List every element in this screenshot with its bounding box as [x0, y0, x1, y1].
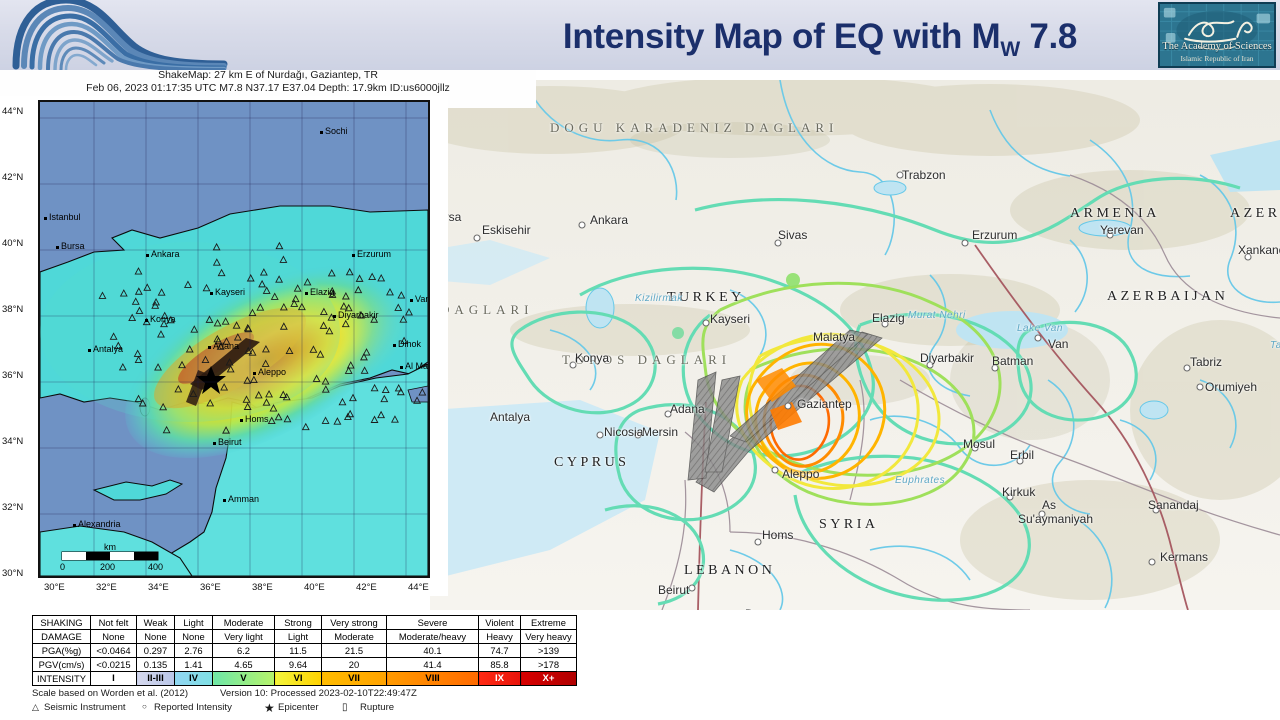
- legend-cell: None: [175, 630, 213, 644]
- web-map-label: Mersin: [642, 425, 678, 439]
- city-marker: [88, 349, 91, 352]
- legend-cell: >139: [521, 644, 577, 658]
- web-map-label: Damascus: [745, 607, 802, 610]
- web-map-label: DOGU KARADENIZ DAGLARI: [550, 120, 838, 136]
- web-map-label: Konya: [575, 351, 609, 365]
- web-map-label: Van: [1048, 337, 1068, 351]
- legend-cell: >178: [521, 658, 577, 672]
- symbol-reported-glyph: ○: [142, 702, 147, 711]
- legend-cell: Not felt: [91, 616, 137, 630]
- web-map-label: Kermans: [1160, 550, 1208, 564]
- academy-of-sciences-logo: The Academy of Sciences Islamic Republic…: [1158, 2, 1276, 68]
- symbol-reported-label: Reported Intensity: [154, 702, 232, 713]
- city-marker: [400, 366, 403, 369]
- legend-cell: 4.65: [213, 658, 275, 672]
- web-map-label: LEBANON: [684, 563, 775, 579]
- legend-cell: Violent: [479, 616, 521, 630]
- symbol-epicenter-label: Epicenter: [278, 702, 319, 713]
- legend-cell: Moderate: [322, 630, 387, 644]
- web-map-label: Sanandaj: [1148, 498, 1199, 512]
- city-marker: [305, 292, 308, 295]
- legend-cell: Very strong: [322, 616, 387, 630]
- legend-cell: 11.5: [275, 644, 322, 658]
- city-marker: [223, 499, 226, 502]
- city-marker: [410, 299, 413, 302]
- city-marker: [352, 254, 355, 257]
- city-label: Kayseri: [215, 287, 245, 297]
- intensity-swatch-i: I: [91, 672, 137, 686]
- version-note: Version 10: Processed 2023-02-10T22:49:4…: [220, 688, 417, 699]
- logo-caption-primary: The Academy of Sciences: [1160, 41, 1274, 52]
- longitude-tick: 44°E: [408, 582, 429, 593]
- logo-caption-secondary: Islamic Republic of Iran: [1160, 54, 1274, 63]
- scalebar-unit: km: [104, 542, 116, 552]
- intensity-swatch-iv: IV: [175, 672, 213, 686]
- web-map-label: Erzurum: [972, 228, 1017, 242]
- legend-cell: Light: [175, 616, 213, 630]
- legend-cell: <0.0464: [91, 644, 137, 658]
- legend-cell: None: [137, 630, 175, 644]
- city-marker: [333, 315, 336, 318]
- web-map-label: Orumiyeh: [1205, 380, 1257, 394]
- web-map-label: Antalya: [490, 410, 530, 424]
- city-marker: [208, 346, 211, 349]
- usgs-web-intensity-map[interactable]: DOGU KARADENIZ DAGLARITOROS DAGLARIDAGLA…: [430, 80, 1280, 610]
- web-map-label: Aleppo: [782, 467, 819, 481]
- page-title-magnitude: 7.8: [1020, 17, 1077, 56]
- web-map-label: Yerevan: [1100, 223, 1144, 237]
- intensity-row: INTENSITYIII-IIIIVVVIVIIVIIIIXX+: [33, 672, 577, 686]
- city-label: Erzurum: [357, 249, 391, 259]
- intensity-swatch-vii: VII: [322, 672, 387, 686]
- legend-cell: Light: [275, 630, 322, 644]
- city-label: Ankara: [151, 249, 180, 259]
- web-map-label: Gaziantep: [797, 397, 852, 411]
- web-map-label: Homs: [762, 528, 793, 542]
- intensity-swatch-ix: IX: [479, 672, 521, 686]
- longitude-tick: 32°E: [96, 582, 117, 593]
- slide-root: DOGU KARADENIZ DAGLARITOROS DAGLARIDAGLA…: [0, 0, 1280, 720]
- intensity-swatch-viii: VIII: [387, 672, 479, 686]
- legend-cell: 0.135: [137, 658, 175, 672]
- page-title-main: Intensity Map of EQ with M: [563, 17, 1000, 56]
- symbol-rupture-label: Rupture: [360, 702, 394, 713]
- web-map-label: Tabriz: [1190, 355, 1222, 369]
- web-map-label: AZER: [1230, 206, 1280, 222]
- legend-row-header: SHAKING: [33, 616, 91, 630]
- longitude-tick: 36°E: [200, 582, 221, 593]
- longitude-tick: 34°E: [148, 582, 169, 593]
- city-marker: [44, 217, 47, 220]
- city-label: Aleppo: [258, 367, 286, 377]
- city-label: Antalya: [93, 344, 123, 354]
- city-marker: [56, 246, 59, 249]
- latitude-tick: 42°N: [2, 172, 23, 183]
- legend-cell: 40.1: [387, 644, 479, 658]
- latitude-tick: 34°N: [2, 436, 23, 447]
- city-label: Sochi: [325, 126, 348, 136]
- scale-note: Scale based on Worden et al. (2012): [32, 688, 188, 699]
- city-label: Alexandria: [78, 519, 121, 529]
- intensity-row-header: INTENSITY: [33, 672, 91, 686]
- legend-cell: 85.8: [479, 658, 521, 672]
- latitude-tick: 40°N: [2, 238, 23, 249]
- city-label: Amman: [228, 494, 259, 504]
- wave-logo-icon: [2, 0, 232, 70]
- page-title: Intensity Map of EQ with MW 7.8: [500, 12, 1140, 64]
- web-map-label: Beirut: [658, 583, 689, 597]
- legend-cell: Weak: [137, 616, 175, 630]
- legend-cell: Strong: [275, 616, 322, 630]
- city-marker: [210, 292, 213, 295]
- intensity-legend: SHAKINGNot feltWeakLightModerateStrongVe…: [32, 615, 536, 714]
- latitude-tick: 36°N: [2, 370, 23, 381]
- legend-row-header: PGA(%g): [33, 644, 91, 658]
- web-map-label: Malatya: [813, 330, 855, 344]
- legend-cell: Heavy: [479, 630, 521, 644]
- shakemap-title-line2: ShakeMap: 27 km E of Nurdağı, Gaziantep,…: [0, 69, 536, 83]
- legend-footer: Scale based on Worden et al. (2012) Vers…: [32, 688, 536, 714]
- city-marker: [253, 372, 256, 375]
- city-label: Bursa: [61, 241, 85, 251]
- web-map-label: Tatikah Rud: [1270, 340, 1280, 351]
- web-map-label: Murat Nehri: [908, 310, 966, 321]
- longitude-tick: 30°E: [44, 582, 65, 593]
- web-map-label: Elazig: [872, 311, 905, 325]
- scalebar-tick-200: 200: [100, 562, 115, 572]
- latitude-tick: 38°N: [2, 304, 23, 315]
- legend-row-header: PGV(cm/s): [33, 658, 91, 672]
- page-title-subscript: W: [1000, 38, 1020, 61]
- shakemap-graphic: [40, 102, 428, 576]
- city-label: Van: [415, 294, 430, 304]
- web-map-label: Erbil: [1010, 448, 1034, 462]
- legend-cell: Extreme: [521, 616, 577, 630]
- city-marker: [73, 524, 76, 527]
- legend-cell: 41.4: [387, 658, 479, 672]
- shakemap-plot-area: SochiIstanbulBursaAnkaraErzurumKayseriEl…: [38, 100, 430, 578]
- city-marker: [393, 344, 396, 347]
- slide-header-banner: Intensity Map of EQ with MW 7.8: [0, 0, 1280, 70]
- city-label: Beirut: [218, 437, 242, 447]
- legend-cell: Moderate/heavy: [387, 630, 479, 644]
- legend-cell: Very light: [213, 630, 275, 644]
- scalebar-tick-400: 400: [148, 562, 163, 572]
- city-label: Al Maw: [405, 361, 430, 371]
- legend-cell: 2.76: [175, 644, 213, 658]
- legend-cell: 0.297: [137, 644, 175, 658]
- shakemap-title-line3: Feb 06, 2023 01:17:35 UTC M7.8 N37.17 E3…: [0, 82, 536, 96]
- web-map-label: Kirkuk: [1002, 485, 1035, 499]
- web-map-label: ARMENIA: [1070, 206, 1160, 222]
- intensity-swatch-ii-iii: II-III: [137, 672, 175, 686]
- intensity-swatch-vi: VI: [275, 672, 322, 686]
- legend-row: DAMAGENoneNoneNoneVery lightLightModerat…: [33, 630, 577, 644]
- legend-cell: Very heavy: [521, 630, 577, 644]
- city-marker: [213, 442, 216, 445]
- city-label: Adana: [213, 341, 239, 351]
- legend-row-header: DAMAGE: [33, 630, 91, 644]
- latitude-tick: 32°N: [2, 502, 23, 513]
- shakemap-figure[interactable]: 44°N42°N40°N38°N36°N34°N32°N30°N 30°E32°…: [0, 96, 448, 596]
- city-label: Dihok: [398, 339, 421, 349]
- web-map-label: AZERBAIJAN: [1107, 289, 1228, 305]
- legend-cell: 9.64: [275, 658, 322, 672]
- web-map-label: Sivas: [778, 228, 807, 242]
- web-map-label: Trabzon: [902, 168, 946, 182]
- city-marker: [320, 131, 323, 134]
- city-label: Konya: [150, 314, 176, 324]
- intensity-swatch-v: V: [213, 672, 275, 686]
- symbol-instrument-glyph: △: [32, 702, 39, 713]
- legend-cell: Severe: [387, 616, 479, 630]
- legend-cell: Moderate: [213, 616, 275, 630]
- longitude-tick: 40°E: [304, 582, 325, 593]
- legend-cell: 74.7: [479, 644, 521, 658]
- web-map-label: Xankandi: [1238, 243, 1280, 257]
- intensity-swatch-x-: X+: [521, 672, 577, 686]
- legend-cell: <0.0215: [91, 658, 137, 672]
- legend-row: PGA(%g)<0.04640.2972.766.211.521.540.174…: [33, 644, 577, 658]
- legend-cell: 20: [322, 658, 387, 672]
- city-label: Homs: [245, 414, 269, 424]
- intensity-legend-table: SHAKINGNot feltWeakLightModerateStrongVe…: [32, 615, 577, 686]
- web-map-label: CYPRUS: [554, 455, 629, 471]
- web-map-label: Batman: [992, 354, 1033, 368]
- city-label: Elazig: [310, 287, 335, 297]
- web-map-label: Lake Van: [1017, 323, 1063, 334]
- longitude-tick: 38°E: [252, 582, 273, 593]
- latitude-tick: 30°N: [2, 568, 23, 579]
- web-map-label: Baghdad: [1023, 609, 1071, 610]
- city-marker: [146, 254, 149, 257]
- web-map-label: Kayseri: [710, 312, 750, 326]
- longitude-tick: 42°E: [356, 582, 377, 593]
- web-map-label: Ankara: [590, 213, 628, 227]
- latitude-tick: 44°N: [2, 106, 23, 117]
- web-map-label: Euphrates: [895, 475, 945, 486]
- city-label: Diyarbakir: [338, 310, 379, 320]
- legend-row: SHAKINGNot feltWeakLightModerateStrongVe…: [33, 616, 577, 630]
- city-label: Istanbul: [49, 212, 81, 222]
- web-map-label: Mosul: [963, 437, 995, 451]
- legend-cell: 21.5: [322, 644, 387, 658]
- web-map-label: Su'aymaniyah: [1018, 512, 1093, 526]
- web-map-label: DAGLARI: [440, 302, 534, 318]
- web-map-label: Adana: [670, 402, 705, 416]
- web-map-label: Eskisehir: [482, 223, 531, 237]
- web-map-label: Kizilirmak: [635, 293, 683, 304]
- web-map-label: Diyarbakir: [920, 351, 974, 365]
- city-marker: [240, 419, 243, 422]
- web-map-label: SYRIA: [819, 517, 879, 533]
- legend-cell: 1.41: [175, 658, 213, 672]
- symbol-rupture-glyph: ▯: [342, 702, 347, 713]
- legend-row: PGV(cm/s)<0.02150.1351.414.659.642041.48…: [33, 658, 577, 672]
- city-marker: [145, 319, 148, 322]
- symbol-epicenter-glyph: ★: [264, 701, 275, 715]
- legend-cell: 6.2: [213, 644, 275, 658]
- legend-cell: None: [91, 630, 137, 644]
- scalebar-tick-0: 0: [60, 562, 65, 572]
- symbol-instrument-label: Seismic Instrument: [44, 702, 126, 713]
- web-map-label: Nicosia: [604, 425, 643, 439]
- web-map-label: As: [1042, 498, 1056, 512]
